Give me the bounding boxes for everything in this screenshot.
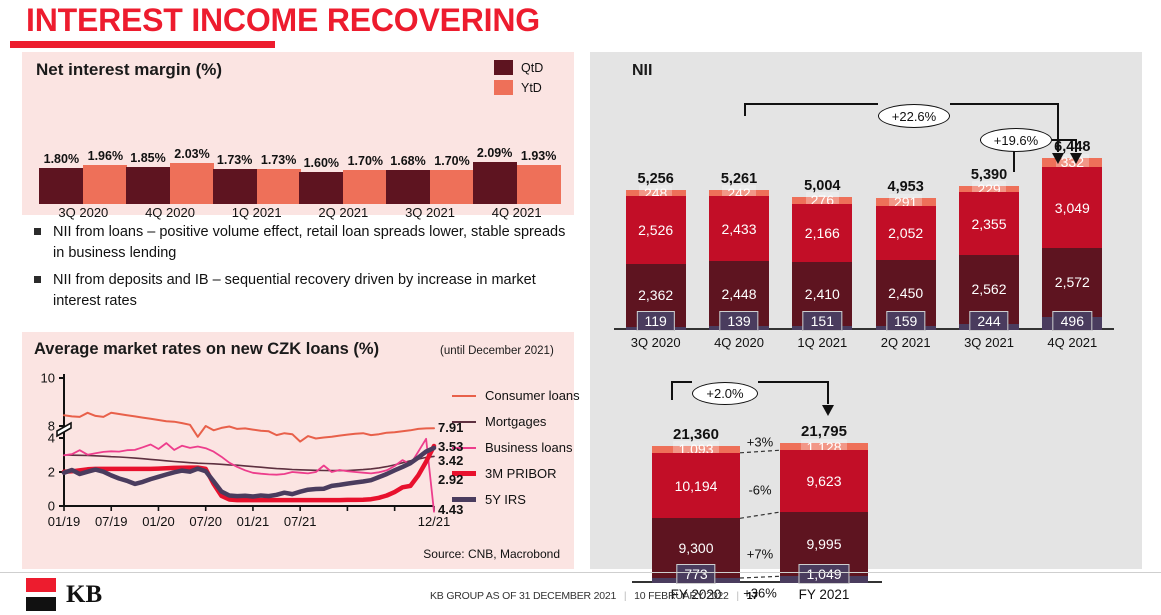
line-legend-label: 3M PRIBOR	[485, 466, 557, 481]
callout-2-0: +2.0%	[692, 382, 758, 405]
line-end-label-3: 3.53	[438, 439, 463, 454]
bullet-square-icon	[34, 228, 41, 235]
nii-quarterly-chart: 2482,5262,3621195,2563Q 20202422,4332,44…	[610, 124, 1120, 356]
bullet-text: NII from loans – positive volume effect,…	[53, 222, 575, 263]
fy-segment-nii-from-deposits: 10,194	[652, 453, 740, 518]
svg-text:0: 0	[48, 499, 55, 514]
nii-bar-4: 2912,0522,4501594,9532Q 2021	[876, 198, 936, 330]
legend-item-ytd: YtD	[494, 80, 543, 95]
fy-segment-other: 1,128	[780, 443, 868, 450]
bullet-text: NII from deposits and IB – sequential re…	[53, 270, 575, 311]
fy-segment-label: 9,300	[678, 540, 713, 556]
nii-total-label: 5,390	[971, 167, 1007, 183]
callout-22-6: +22.6%	[878, 104, 950, 128]
nii-segment-label: 2,166	[805, 225, 840, 241]
nii-segment-nii-from-loans: 2,572	[1042, 248, 1102, 317]
svg-text:2: 2	[48, 465, 55, 480]
nii-panel: NII 2482,5262,3621195,2563Q 20202422,433…	[590, 52, 1142, 569]
line-legend-swatch	[452, 395, 476, 397]
legend-item-qtd: QtD	[494, 60, 543, 75]
nii-segment-nii-from-deposits: 2,052	[876, 206, 936, 261]
footer-text: KB GROUP AS OF 31 DECEMBER 2021 | 10 FEB…	[430, 590, 758, 602]
nii-bar-6: 3323,0492,5724966,4484Q 2021	[1042, 158, 1102, 330]
nim-bar-ytd-1: 1.96%	[83, 165, 127, 204]
market-rates-panel: Average market rates on new CZK loans (%…	[22, 332, 574, 569]
nim-bar-ytd-3: 1.73%	[257, 169, 301, 204]
nim-category-label: 3Q 2021	[386, 205, 474, 220]
nim-bar-qtd-1: 1.80%	[39, 168, 83, 204]
nii-segment-label-ib: 119	[636, 311, 674, 331]
fy-change-label-2: +7%	[747, 547, 773, 562]
nim-value-label: 2.09%	[477, 146, 512, 160]
net-interest-margin-panel: Net interest margin (%) QtD YtD 1.80%1.9…	[22, 52, 574, 215]
fy-total-label: 21,360	[673, 426, 719, 443]
nii-segment-label: 2,355	[971, 216, 1006, 232]
nii-segment-nii-from-deposits: 2,433	[709, 196, 769, 261]
nii-category-label: 1Q 2021	[797, 335, 847, 350]
nim-bar-qtd-2: 1.85%	[126, 167, 170, 204]
fy-segment-label-ib: 1,049	[798, 564, 849, 584]
list-item: NII from loans – positive volume effect,…	[30, 222, 575, 263]
line-legend-item-3: 3M PRIBOR	[452, 466, 580, 481]
nii-segment-nii-from-deposits: 2,526	[626, 196, 686, 263]
nii-segment-other: 291	[876, 198, 936, 206]
nii-category-label: 3Q 2021	[964, 335, 1014, 350]
page-title: INTEREST INCOME RECOVERING	[26, 2, 540, 39]
nii-segment-label: 2,450	[888, 285, 923, 301]
nim-group-1: 1.80%1.96%3Q 2020	[39, 165, 127, 204]
nii-segment-label: 2,362	[638, 287, 673, 303]
nii-segment-nii-from-deposits: 3,049	[1042, 167, 1102, 248]
nii-bar-1: 2482,5262,3621195,2563Q 2020	[626, 190, 686, 330]
svg-text:01/21: 01/21	[237, 514, 270, 529]
nii-bar-5: 2292,3552,5622445,3903Q 2021	[959, 186, 1019, 330]
nim-value-label: 1.73%	[217, 153, 252, 167]
kb-logo-wordmark: KB	[66, 581, 102, 609]
nii-bar-2: 2422,4332,4481395,2614Q 2020	[709, 190, 769, 330]
nii-segment-label: 2,433	[721, 221, 756, 237]
svg-text:07/19: 07/19	[95, 514, 128, 529]
line-end-label-5: 2.92	[438, 472, 463, 487]
nii-segment-label: 2,410	[805, 286, 840, 302]
line-legend-item-4: 5Y IRS	[452, 492, 580, 507]
line-series-consumer-loans	[64, 413, 434, 442]
nii-segment-label: 2,052	[888, 225, 923, 241]
fy-segment-other: 1,093	[652, 446, 740, 453]
nim-category-label: 4Q 2020	[126, 205, 214, 220]
bullet-square-icon	[34, 276, 41, 283]
fy-segment-label: 10,194	[675, 478, 718, 494]
kb-logo: KB	[26, 578, 130, 611]
svg-text:10: 10	[41, 371, 55, 386]
nii-total-label: 6,448	[1054, 139, 1090, 155]
nim-group-4: 1.60%1.70%2Q 2021	[299, 170, 387, 204]
nii-category-label: 3Q 2020	[631, 335, 681, 350]
nim-bar-ytd-6: 1.93%	[517, 165, 561, 204]
line-legend-label: 5Y IRS	[485, 492, 526, 507]
kb-logo-mark-icon	[26, 578, 56, 611]
line-chart-svg: 02481001/1907/1901/2007/2001/2107/2112/2…	[30, 368, 450, 533]
nim-bar-qtd-6: 2.09%	[473, 162, 517, 204]
nim-bar-ytd-5: 1.70%	[430, 170, 474, 204]
nii-category-label: 4Q 2020	[714, 335, 764, 350]
nii-segment-other: 332	[1042, 158, 1102, 167]
line-legend-label: Consumer loans	[485, 388, 580, 403]
fy-segment-label: 9,623	[806, 473, 841, 489]
nii-category-label: 4Q 2021	[1047, 335, 1097, 350]
market-rates-line-chart: 02481001/1907/1901/2007/2001/2107/2112/2…	[30, 368, 450, 533]
nim-panel-title: Net interest margin (%)	[36, 60, 222, 80]
nii-axis-line	[614, 328, 1114, 330]
nim-category-label: 1Q 2021	[213, 205, 301, 220]
nim-group-2: 1.85%2.03%4Q 2020	[126, 163, 214, 204]
bullet-list: NII from loans – positive volume effect,…	[30, 222, 575, 318]
fy-change-label-1: -6%	[748, 482, 771, 497]
nim-bar-chart: 1.80%1.96%3Q 20201.85%2.03%4Q 20201.73%1…	[40, 160, 560, 212]
line-end-label-2: 4.43	[438, 502, 463, 517]
nii-segment-other: 248	[626, 190, 686, 197]
line-chart-legend: Consumer loansMortgagesBusiness loans3M …	[452, 388, 580, 518]
nii-total-label: 5,261	[721, 171, 757, 187]
line-end-label-1: 7.91	[438, 420, 463, 435]
line-end-label-4: 3.42	[438, 453, 463, 468]
fy-segment-nii-from-deposits: 9,623	[780, 450, 868, 512]
nim-value-label: 1.96%	[88, 149, 123, 163]
nii-segment-other: 276	[792, 197, 852, 204]
legend-label-ytd: YtD	[521, 81, 542, 95]
nii-segment-label: 2,526	[638, 222, 673, 238]
nim-group-6: 2.09%1.93%4Q 2021	[473, 162, 561, 204]
svg-text:07/20: 07/20	[189, 514, 222, 529]
nim-value-label: 1.73%	[261, 153, 296, 167]
line-legend-item-2: Business loans	[452, 440, 580, 455]
nii-segment-label-ib: 244	[969, 311, 1008, 331]
nim-bar-qtd-5: 1.68%	[386, 170, 430, 204]
fy-bar-fy-2021: 1,1289,6239,9951,04921,795FY 2021	[780, 443, 868, 583]
line-panel-note: (until December 2021)	[440, 345, 554, 357]
slide-root: INTEREST INCOME RECOVERING Net interest …	[0, 0, 1161, 615]
nim-value-label: 1.68%	[390, 154, 425, 168]
legend-swatch-qtd	[494, 60, 513, 75]
nii-segment-label: 2,572	[1055, 274, 1090, 290]
nii-segment-label: 3,049	[1055, 200, 1090, 216]
line-legend-label: Business loans	[485, 440, 572, 455]
nii-segment-label-ib: 139	[719, 311, 758, 331]
nii-segment-nii-from-deposits: 2,166	[792, 204, 852, 262]
nii-bar-3: 2762,1662,4101515,0041Q 2021	[792, 197, 852, 330]
nim-bar-qtd-3: 1.73%	[213, 169, 257, 204]
svg-text:01/19: 01/19	[48, 514, 81, 529]
nim-value-label: 2.03%	[174, 147, 209, 161]
nii-segment-label-ib: 496	[1053, 311, 1092, 331]
fy-change-label-0: +3%	[747, 434, 773, 449]
line-legend-label: Mortgages	[485, 414, 546, 429]
fy-total-label: 21,795	[801, 423, 847, 440]
nii-segment-label-ib: 159	[886, 311, 925, 331]
footer-page-number: 17	[747, 590, 758, 602]
nim-value-label: 1.70%	[434, 154, 469, 168]
svg-text:07/21: 07/21	[284, 514, 317, 529]
line-panel-title: Average market rates on new CZK loans (%…	[34, 340, 379, 359]
line-legend-item-1: Mortgages	[452, 414, 580, 429]
fy-segment-label-ib: 773	[676, 564, 715, 584]
nim-group-3: 1.73%1.73%1Q 2021	[213, 169, 301, 204]
legend-swatch-ytd	[494, 80, 513, 95]
nim-legend: QtD YtD	[494, 60, 543, 100]
nim-category-label: 4Q 2021	[473, 205, 561, 220]
nii-category-label: 2Q 2021	[881, 335, 931, 350]
footer-date: 10 FEBRUARY 2022	[634, 590, 728, 602]
nim-bar-ytd-2: 2.03%	[170, 163, 214, 204]
nii-segment-nii-from-deposits: 2,355	[959, 192, 1019, 255]
nii-total-label: 4,953	[888, 179, 924, 195]
nii-segment-label: 2,448	[721, 286, 756, 302]
list-item: NII from deposits and IB – sequential re…	[30, 270, 575, 311]
chart-source-note: Source: CNB, Macrobond	[423, 547, 560, 561]
nii-total-label: 5,004	[804, 178, 840, 194]
footer-company: KB GROUP AS OF 31 DECEMBER 2021	[430, 590, 616, 602]
fy-segment-label: 9,995	[806, 536, 841, 552]
footer-divider	[0, 572, 1161, 573]
nii-fullyear-chart: 1,09310,1949,30077321,360FY 20201,1289,6…	[632, 430, 882, 605]
fy-category-label: FY 2021	[799, 587, 850, 602]
legend-label-qtd: QtD	[521, 61, 543, 75]
nim-group-5: 1.68%1.70%3Q 2021	[386, 170, 474, 204]
line-legend-item-0: Consumer loans	[452, 388, 580, 403]
nim-category-label: 3Q 2020	[39, 205, 127, 220]
nim-bar-ytd-4: 1.70%	[343, 170, 387, 204]
nim-bar-qtd-4: 1.60%	[299, 172, 343, 204]
fy-bar-fy-2020: 1,09310,1949,30077321,360FY 2020	[652, 446, 740, 583]
nii-segment-label-ib: 151	[803, 311, 842, 331]
nim-value-label: 1.85%	[130, 151, 165, 165]
title-underline	[10, 41, 275, 48]
nii-total-label: 5,256	[638, 171, 674, 187]
nii-segment-label: 2,562	[971, 281, 1006, 297]
callout-19-6: +19.6%	[980, 128, 1052, 152]
nii-panel-title: NII	[632, 62, 652, 80]
nim-category-label: 2Q 2021	[299, 205, 387, 220]
svg-text:8: 8	[48, 419, 55, 434]
nim-value-label: 1.93%	[521, 149, 556, 163]
svg-text:01/20: 01/20	[142, 514, 175, 529]
nim-value-label: 1.70%	[348, 154, 383, 168]
nim-value-label: 1.80%	[44, 152, 79, 166]
nim-value-label: 1.60%	[304, 156, 339, 170]
